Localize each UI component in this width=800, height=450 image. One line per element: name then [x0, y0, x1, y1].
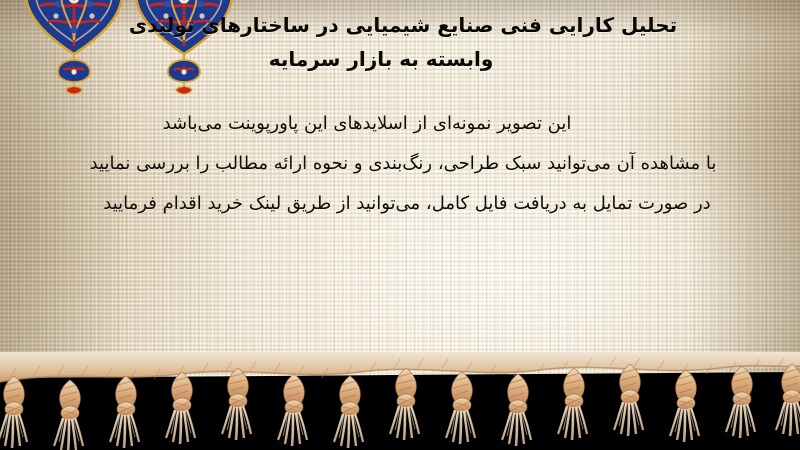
- body-line-3: در صورت تمایل به دریافت فایل کامل، می‌تو…: [34, 184, 782, 224]
- body-line-1: این تصویر نمونه‌ای از اسلایدهای این پاور…: [34, 104, 782, 144]
- carpet-knotted-fringe-icon: [0, 352, 800, 450]
- slide-body-text: این تصویر نمونه‌ای از اسلایدهای این پاور…: [34, 104, 782, 224]
- title-line-1: تحلیل کارایی فنی صنایع شیمیایی در ساختار…: [18, 8, 788, 42]
- slide-text-layer: تحلیل کارایی فنی صنایع شیمیایی در ساختار…: [0, 0, 800, 384]
- slide-canvas: تحلیل کارایی فنی صنایع شیمیایی در ساختار…: [0, 0, 800, 450]
- title-line-2: وابسته به بازار سرمایه: [18, 42, 788, 76]
- body-line-2: با مشاهده آن می‌توانید سبک طراحی، رنگ‌بن…: [34, 144, 782, 184]
- page-title: تحلیل کارایی فنی صنایع شیمیایی در ساختار…: [18, 8, 788, 76]
